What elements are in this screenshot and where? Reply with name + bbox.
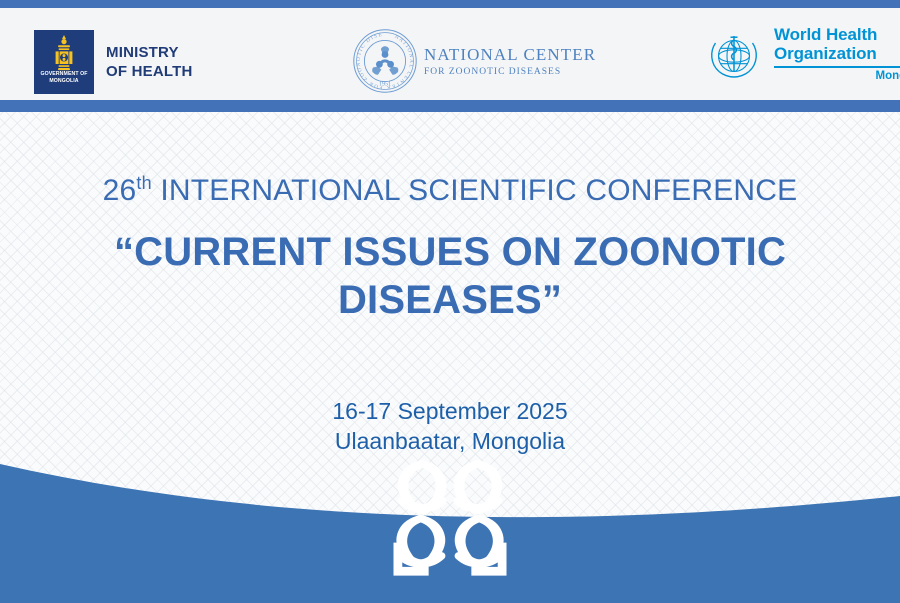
who-logo: World Health Organization Mongolia xyxy=(702,26,900,90)
national-center-name-line2: FOR ZOONOTIC DISEASES xyxy=(424,66,596,78)
ministry-of-health-logo: GOVERNMENT OF MONGOLIA MINISTRY OF HEALT… xyxy=(34,30,193,94)
poster-text-block: 26th INTERNATIONAL SCIENTIFIC CONFERENCE… xyxy=(0,112,900,456)
who-name-line2: Organization xyxy=(774,45,900,64)
national-center-name: NATIONAL CENTER FOR ZOONOTIC DISEASES xyxy=(424,45,596,78)
national-center-name-line1: NATIONAL CENTER xyxy=(424,45,596,64)
ministry-name-line2: OF HEALTH xyxy=(106,62,193,81)
national-center-logo: 1951 NATIONAL CENTER FOR ZOONOTIC DISEAS… xyxy=(352,28,596,94)
edition-number: 26 xyxy=(103,174,137,207)
ministry-of-health-name: MINISTRY OF HEALTH xyxy=(106,43,193,81)
emblem-caption: GOVERNMENT OF MONGOLIA xyxy=(34,71,94,84)
ministry-name-line1: MINISTRY xyxy=(106,43,193,62)
conference-dates: 16-17 September 2025 xyxy=(0,396,900,426)
top-accent-bar xyxy=(0,0,900,8)
soyombo-icon xyxy=(49,34,79,72)
logo-header-band: GOVERNMENT OF MONGOLIA MINISTRY OF HEALT… xyxy=(0,8,900,100)
conference-title: “CURRENT ISSUES ON ZOONOTIC DISEASES” xyxy=(0,228,900,324)
mongolia-government-emblem: GOVERNMENT OF MONGOLIA xyxy=(34,30,94,94)
who-name-line1: World Health xyxy=(774,26,900,45)
conference-poster: GOVERNMENT OF MONGOLIA MINISTRY OF HEALT… xyxy=(0,0,900,603)
footer-wave-decoration xyxy=(0,458,900,603)
mongolian-knot-ornament-right xyxy=(0,446,884,591)
edition-rest: INTERNATIONAL SCIENTIFIC CONFERENCE xyxy=(152,174,798,207)
header-accent-bar xyxy=(0,100,900,112)
who-wordmark: World Health Organization Mongolia xyxy=(774,26,900,82)
who-emblem-icon xyxy=(702,26,766,90)
conference-edition-line: 26th INTERNATIONAL SCIENTIFIC CONFERENCE xyxy=(0,174,900,208)
who-country-label: Mongolia xyxy=(774,70,900,82)
edition-suffix: th xyxy=(136,173,151,193)
zoonotic-seal-icon: 1951 NATIONAL CENTER FOR ZOONOTIC DISEAS… xyxy=(352,28,418,94)
who-divider xyxy=(774,66,900,68)
